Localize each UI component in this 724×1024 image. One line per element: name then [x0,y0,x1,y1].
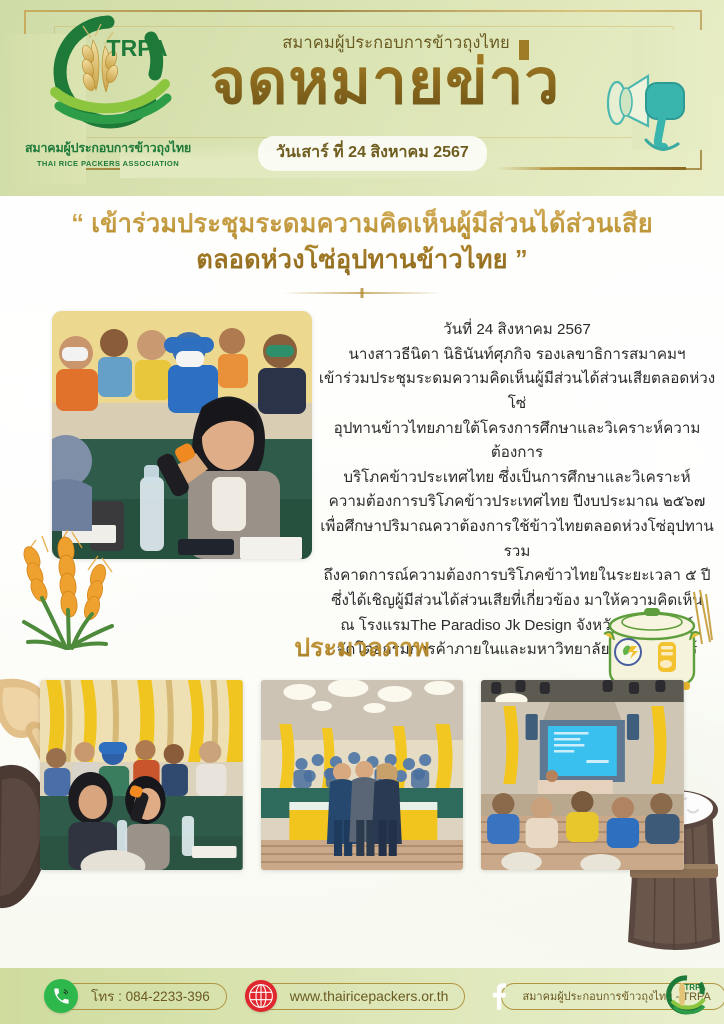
footer-trpa-logo: TRPA [666,975,708,1017]
article-line: อุปทานข้าวไทยภายใต้โครงการศึกษาและวิเครา… [318,417,716,466]
article-body: วันที่ 24 สิงหาคม 2567 นางสาวธีนิดา นิธิ… [318,318,716,663]
headline-divider-dot [361,288,364,298]
article-line: เพื่อศึกษาปริมาณควาต้องการใช้ข้าวไทยตลอด… [318,515,716,564]
photo-presentation-stage [481,680,684,870]
gallery-section-title: ประมวลภาพ [0,628,724,668]
logo-subtitle-english: THAI RICE PACKERS ASSOCIATION [10,159,206,168]
article-line: ซึ่งได้เชิญผู้มีส่วนได้ส่วนเสียที่เกี่ยว… [318,589,716,614]
newsletter-title: จดหมายข่าว [150,52,620,114]
article-line: เข้าร่วมประชุมระดมความคิดเห็นผู้มีส่วนได… [318,367,716,416]
photo-group-portrait [261,680,464,870]
facebook-icon [485,981,511,1011]
phone-icon [44,979,78,1013]
header-gold-rule [496,167,686,170]
globe-icon [245,980,277,1012]
newsletter-footer: โทร : 084-2233-396 www.thairicepackers.o… [0,968,724,1024]
article-line: นางสาวธีนิดา นิธินันท์ศุภกิจ รองเลขาธิกา… [318,343,716,368]
svg-text:TRPA: TRPA [684,983,705,992]
article-line: ความต้องการบริโภคข้าวประเทศไทย ปีงบประมา… [318,490,716,515]
article-line: บริโภคข้าวประเทศไทย ซึ่งเป็นการศึกษาและว… [318,466,716,491]
photo-speaker-with-microphone [52,311,312,559]
article-headline: “ เข้าร่วมประชุมระดมความคิดเห็นผู้มีส่วน… [0,206,724,278]
megaphone-icon [602,52,714,162]
headline-line-1: “ เข้าร่วมประชุมระดมความคิดเห็นผู้มีส่วน… [71,210,653,238]
gold-accent-chip [519,40,529,60]
newsletter-header: TRPA สมาคมผู้ประกอบการข้าวถุงไทย THAI RI… [0,0,724,196]
footer-phone[interactable]: โทร : 084-2233-396 [44,979,227,1013]
phone-number-label: โทร : 084-2233-396 [60,983,227,1010]
logo-subtitle-thai: สมาคมผู้ประกอบการข้าวถุงไทย [10,138,206,158]
article-line: วันที่ 24 สิงหาคม 2567 [318,318,716,343]
headline-line-2: ตลอดห่วงโซ่อุปทานข้าวไทย ” [0,242,724,278]
website-url-label: www.thairicepackers.or.th [259,983,466,1010]
photo-gallery [40,680,684,870]
newsletter-page: TRPA สมาคมผู้ประกอบการข้าวถุงไทย THAI RI… [0,0,724,1024]
trpa-emblem-icon-small: TRPA [666,975,708,1017]
header-date-badge: วันเสาร์ ที่ 24 สิงหาคม 2567 [258,136,487,171]
footer-website[interactable]: www.thairicepackers.or.th [245,980,466,1012]
article-line: ถึงคาดการณ์ความต้องการบริโภคข้าวไทยในระย… [318,564,716,589]
photo-audience-question [40,680,243,870]
